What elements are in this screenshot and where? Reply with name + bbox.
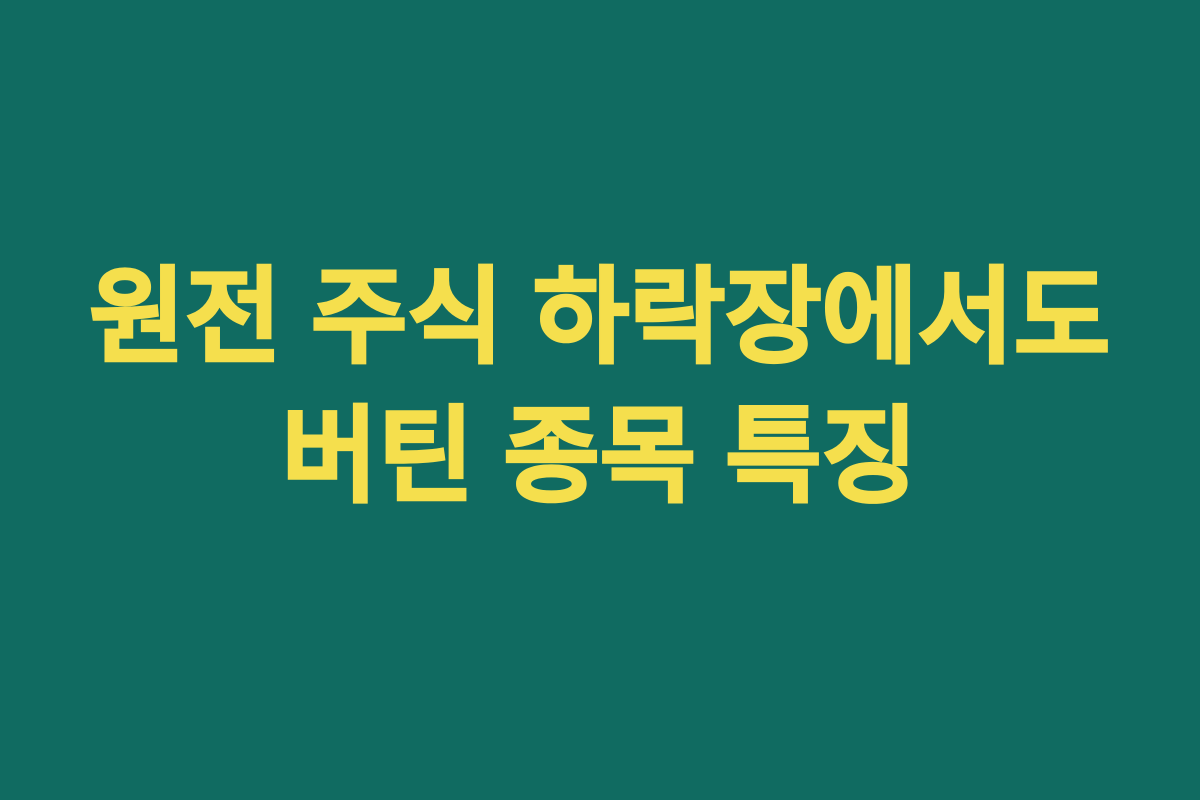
headline-block: 원전 주식 하락장에서도 버틴 종목 특징 xyxy=(0,250,1200,527)
text-thumbnail-card: 원전 주식 하락장에서도 버틴 종목 특징 xyxy=(0,0,1200,800)
headline-line-1: 원전 주식 하락장에서도 xyxy=(0,250,1200,387)
headline-line-2: 버틴 종목 특징 xyxy=(0,389,1200,526)
